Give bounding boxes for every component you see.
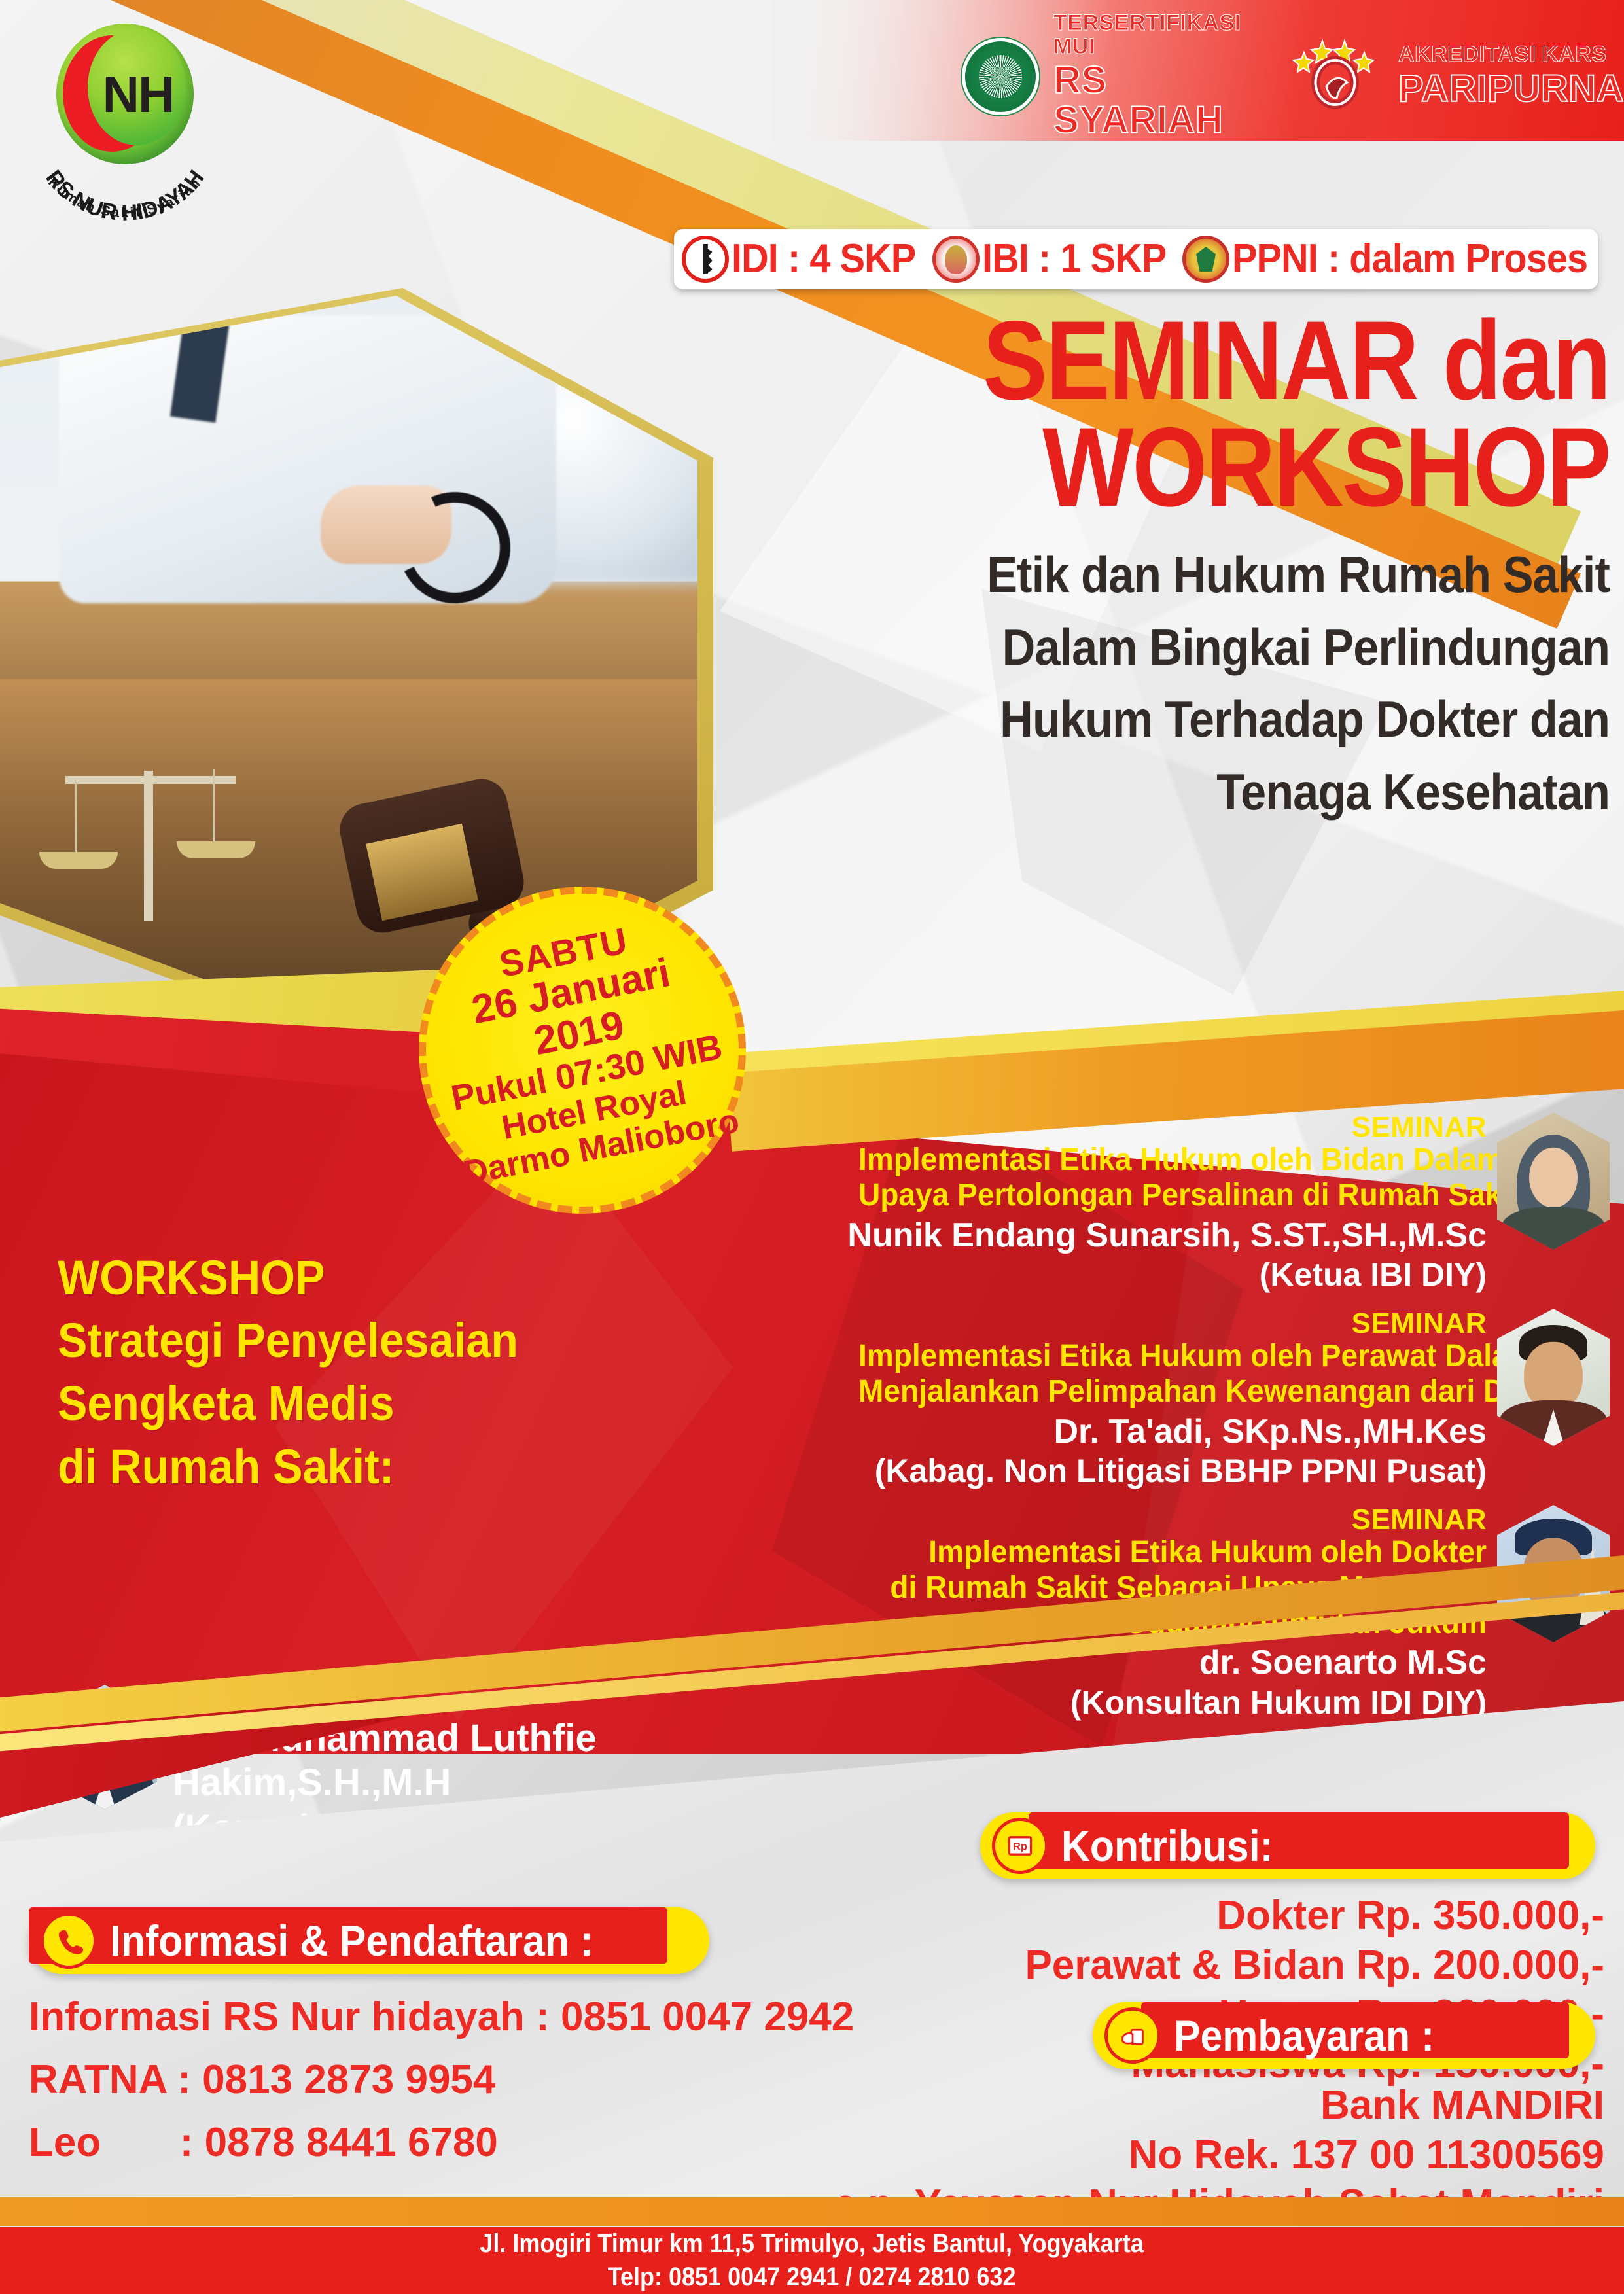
informasi-label: Informasi & Pendaftaran : (110, 1919, 593, 1962)
seminar-1-text: SEMINAR Implementasi Etika Hukum oleh Bi… (832, 1112, 1487, 1294)
seminar-speaker-2: SEMINAR Implementasi Etika Hukum oleh Pe… (832, 1309, 1610, 1491)
date-badge: SABTU 26 Januari 2019 Pukul 07:30 WIB Ho… (419, 887, 746, 1214)
seminar-speaker-1: SEMINAR Implementasi Etika Hukum oleh Bi… (832, 1112, 1610, 1294)
kontribusi-header: Rp Kontribusi: (980, 1812, 1595, 1879)
pembayaran-bank: Bank MANDIRI (834, 2081, 1604, 2130)
seminar-1-topic-2: Upaya Pertolongan Persalinan di Rumah Sa… (858, 1178, 1487, 1213)
certification-kars-small: AKREDITASI KARS (1398, 43, 1624, 67)
certification-kars-big: PARIPURNA (1398, 69, 1624, 109)
headline-line-1: SEMINAR dan (889, 308, 1610, 414)
headline-line-2: WORKSHOP (889, 414, 1610, 521)
informasi-line-2: RATNA : 0813 2873 9954 (29, 2049, 854, 2111)
informasi-list: Informasi RS Nur hidayah : 0851 0047 294… (29, 1986, 854, 2174)
headline-block: SEMINAR dan WORKSHOP Etik dan Hukum Ruma… (772, 308, 1610, 828)
seminar-3-role: (Konsultan Hukum IDI DIY) (832, 1684, 1487, 1722)
rupiah-icon: Rp (992, 1818, 1048, 1874)
certification-mui: TERSERTIFIKASI MUI RS SYARIAH (1053, 12, 1271, 141)
price-item-dokter: Dokter Rp. 350.000,- (1025, 1891, 1604, 1941)
kontribusi-label: Kontribusi: (1061, 1824, 1273, 1867)
logo-arc-text: RS NUR HIDAYAH Rumah Sakit Syariah (25, 139, 225, 237)
workshop-label: WORKSHOP (58, 1246, 720, 1309)
certification-kars: AKREDITASI KARS PARIPURNA (1398, 43, 1624, 109)
kars-logo-icon (1286, 34, 1384, 119)
subtitle-line-4: Tenaga Kesehatan (856, 756, 1610, 828)
ppni-seal-icon (1182, 236, 1229, 283)
subtitle-line-3: Hukum Terhadap Dokter dan (856, 683, 1610, 756)
scales-chain-left (75, 780, 77, 852)
seminar-3-topic-1: Implementasi Etika Hukum oleh Dokter (858, 1535, 1487, 1570)
svg-text:Rp: Rp (1013, 1841, 1027, 1853)
informasi-line-1: Informasi RS Nur hidayah : 0851 0047 294… (29, 1986, 854, 2049)
scales-stand (144, 771, 153, 921)
pembayaran-account: No Rek. 137 00 11300569 (834, 2130, 1604, 2180)
idi-seal-icon (682, 236, 729, 283)
seminar-3-label: SEMINAR (832, 1505, 1487, 1535)
event-poster: NH RS NUR HIDAYAH Rumah Sakit Syariah TE… (0, 0, 1624, 2294)
footer-address: Jl. Imogiri Timur km 11,5 Trimulyo, Jeti… (480, 2227, 1144, 2261)
seminar-1-role: (Ketua IBI DIY) (832, 1256, 1487, 1294)
headline-subtitle: Etik dan Hukum Rumah Sakit Dalam Bingkai… (856, 538, 1610, 828)
date-badge-content: SABTU 26 Januari 2019 Pukul 07:30 WIB Ho… (406, 904, 758, 1196)
seminar-1-name: Nunik Endang Sunarsih, S.ST.,SH.,M.Sc (832, 1216, 1487, 1256)
workshop-title-2: Sengketa Medis (58, 1372, 720, 1435)
scales-pan-left (39, 852, 118, 869)
seminar-2-photo (1497, 1309, 1610, 1446)
certification-mui-small: TERSERTIFIKASI MUI (1053, 12, 1271, 58)
mui-seal-icon (962, 38, 1039, 115)
workshop-block: WORKSHOP Strategi Penyelesaian Sengketa … (58, 1246, 777, 1498)
certification-mui-big: RS SYARIAH (1053, 61, 1271, 141)
photo-face (1529, 1148, 1578, 1208)
seminar-2-role: (Kabag. Non Litigasi BBHP PPNI Pusat) (832, 1452, 1487, 1491)
pembayaran-label: Pembayaran : (1174, 2014, 1434, 2057)
footer-orange-band (0, 2197, 1624, 2226)
seminar-1-label: SEMINAR (832, 1112, 1487, 1142)
skp-ibi-text: IBI : 1 SKP (982, 239, 1166, 279)
seminar-2-name: Dr. Ta'adi, SKp.Ns.,MH.Kes (832, 1412, 1487, 1452)
seminar-1-topic-1: Implementasi Etika Hukum oleh Bidan Dala… (858, 1142, 1487, 1178)
seminar-2-topic-1: Implementasi Etika Hukum oleh Perawat Da… (858, 1339, 1487, 1374)
workshop-title-1: Strategi Penyelesaian (58, 1309, 720, 1372)
informasi-header: Informasi & Pendaftaran : (29, 1907, 709, 1974)
footer-bar: Jl. Imogiri Timur km 11,5 Trimulyo, Jeti… (0, 2227, 1624, 2294)
seminar-2-text: SEMINAR Implementasi Etika Hukum oleh Pe… (832, 1309, 1487, 1491)
scales-pan-right (177, 841, 255, 858)
seminar-1-photo (1497, 1112, 1610, 1250)
price-item-perawat-bidan: Perawat & Bidan Rp. 200.000,- (1025, 1941, 1604, 1990)
skp-accreditation-bar: IDI : 4 SKP IBI : 1 SKP PPNI : dalam Pro… (674, 229, 1598, 289)
subtitle-line-2: Dalam Bingkai Perlindungan (856, 611, 1610, 684)
seminar-2-label: SEMINAR (832, 1309, 1487, 1339)
skp-idi-text: IDI : 4 SKP (732, 239, 915, 279)
scales-chain-right (213, 769, 215, 841)
certification-row: TERSERTIFIKASI MUI RS SYARIAH AKREDITASI… (962, 12, 1624, 141)
photo-body (1502, 1207, 1605, 1250)
hospital-logo: NH RS NUR HIDAYAH Rumah Sakit Syariah (25, 17, 241, 233)
phone-icon (41, 1913, 97, 1969)
seminar-2-topic-2: Menjalankan Pelimpahan Kewenangan dari D… (858, 1374, 1487, 1409)
workshop-title-3: di Rumah Sakit: (58, 1436, 720, 1498)
informasi-line-3: Leo : 0878 8441 6780 (29, 2111, 854, 2174)
ibi-seal-icon (932, 236, 980, 283)
footer-phone: Telp: 0851 0047 2941 / 0274 2810 632 (608, 2261, 1016, 2294)
subtitle-line-1: Etik dan Hukum Rumah Sakit (856, 538, 1610, 611)
skp-ppni-text: PPNI : dalam Proses (1232, 239, 1587, 279)
payment-hand-icon (1104, 2007, 1161, 2064)
pembayaran-header: Pembayaran : (1093, 2002, 1595, 2069)
